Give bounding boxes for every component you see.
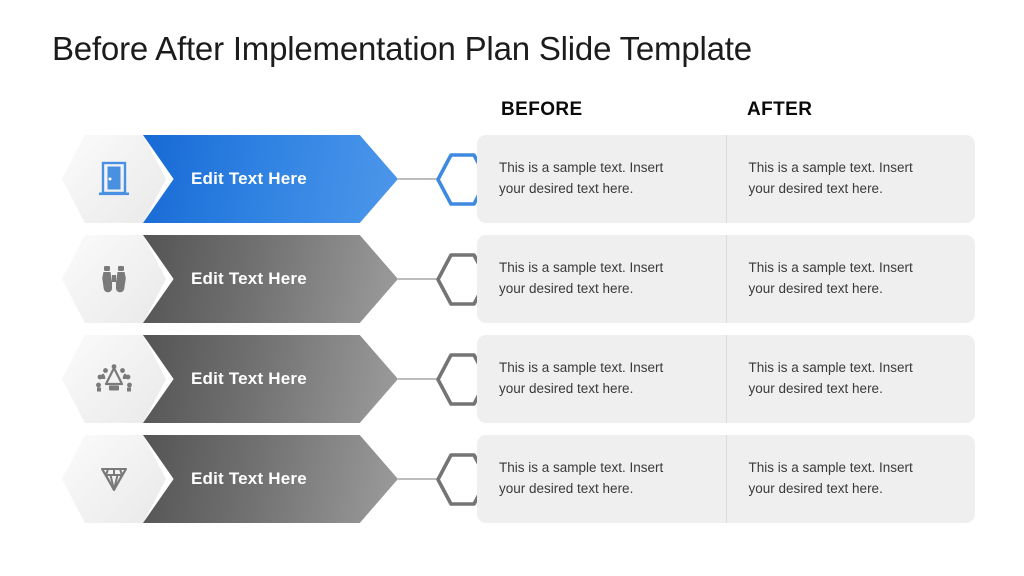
before-text: This is a sample text. Insert your desir… (499, 358, 679, 400)
panel-column-before: This is a sample text. Insert your desir… (477, 235, 726, 323)
content-panel: This is a sample text. Insert your desir… (477, 135, 975, 223)
panel-column-before: This is a sample text. Insert your desir… (477, 435, 726, 523)
column-header-after: AFTER (747, 99, 812, 121)
after-text: This is a sample text. Insert your desir… (749, 358, 929, 400)
panel-column-before: This is a sample text. Insert your desir… (477, 335, 726, 423)
panel-column-before: This is a sample text. Insert your desir… (477, 135, 726, 223)
page-title: Before After Implementation Plan Slide T… (52, 30, 752, 68)
connector-line (398, 278, 440, 280)
after-text: This is a sample text. Insert your desir… (749, 158, 929, 200)
stage-label: Edit Text Here (191, 469, 307, 489)
process-row: Edit Text Here This is a sample text. In… (0, 435, 1024, 523)
open-door-icon (97, 161, 131, 197)
binoculars-icon (97, 262, 131, 296)
icon-badge[interactable] (62, 235, 166, 323)
stage-arrow[interactable]: Edit Text Here (143, 135, 398, 223)
connector-line (398, 178, 440, 180)
before-text: This is a sample text. Insert your desir… (499, 158, 679, 200)
stage-label: Edit Text Here (191, 369, 307, 389)
meeting-table-icon (95, 364, 133, 394)
panel-column-after: This is a sample text. Insert your desir… (726, 335, 976, 423)
stage-arrow[interactable]: Edit Text Here (143, 435, 398, 523)
panel-column-after: This is a sample text. Insert your desir… (726, 435, 976, 523)
process-row: Edit Text Here This is a sample text. In… (0, 135, 1024, 223)
process-row: Edit Text Here This is a sample text. In… (0, 235, 1024, 323)
content-panel: This is a sample text. Insert your desir… (477, 335, 975, 423)
stage-arrow[interactable]: Edit Text Here (143, 335, 398, 423)
content-panel: This is a sample text. Insert your desir… (477, 435, 975, 523)
before-text: This is a sample text. Insert your desir… (499, 458, 679, 500)
icon-badge[interactable] (62, 335, 166, 423)
process-row: Edit Text Here This is a sample text. In… (0, 335, 1024, 423)
before-text: This is a sample text. Insert your desir… (499, 258, 679, 300)
connector-line (398, 378, 440, 380)
connector-line (398, 478, 440, 480)
after-text: This is a sample text. Insert your desir… (749, 458, 929, 500)
panel-column-after: This is a sample text. Insert your desir… (726, 135, 976, 223)
process-rows: Edit Text Here This is a sample text. In… (0, 135, 1024, 535)
content-panel: This is a sample text. Insert your desir… (477, 235, 975, 323)
stage-label: Edit Text Here (191, 269, 307, 289)
after-text: This is a sample text. Insert your desir… (749, 258, 929, 300)
diamond-icon (95, 463, 133, 495)
stage-arrow[interactable]: Edit Text Here (143, 235, 398, 323)
icon-badge[interactable] (62, 435, 166, 523)
stage-label: Edit Text Here (191, 169, 307, 189)
column-header-before: BEFORE (501, 99, 583, 121)
panel-column-after: This is a sample text. Insert your desir… (726, 235, 976, 323)
icon-badge[interactable] (62, 135, 166, 223)
